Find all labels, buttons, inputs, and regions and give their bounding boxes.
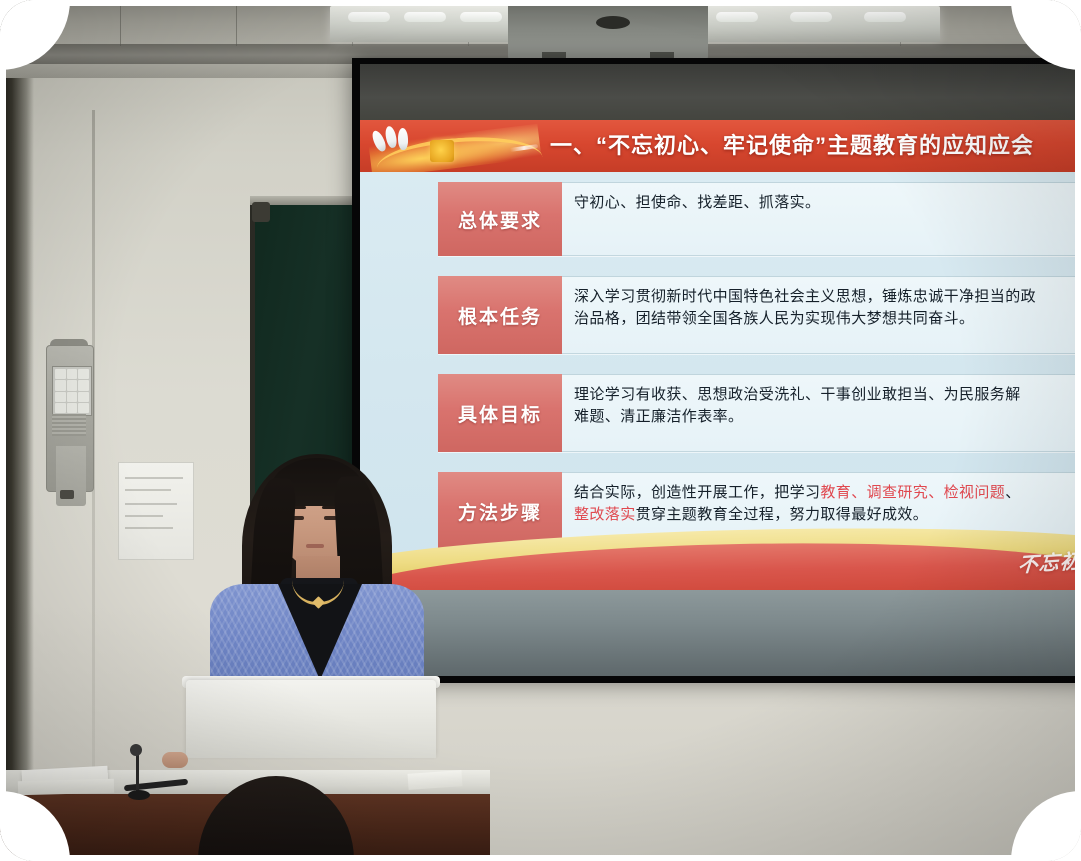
notice-text-line xyxy=(125,503,177,505)
row-text-highlight: 整改落实 xyxy=(574,506,636,523)
microphone-stem xyxy=(136,752,139,792)
screen-bottom-band xyxy=(360,588,1081,676)
photograph: 一、“不忘初心、牢记使命”主题教育的应知应会 总体要求 守初心、担使命、找差距、… xyxy=(0,0,1081,861)
row-text-line: 治品格，团结带领全国各族人民为实现伟大梦想共同奋斗。 xyxy=(574,308,1081,330)
keypad-key[interactable] xyxy=(67,380,78,390)
wall-notice-paper xyxy=(118,462,194,560)
ceiling-tile-seam xyxy=(236,0,237,46)
row-text-plain: 贯穿主题教育全过程，努力取得最好成效。 xyxy=(636,506,929,523)
notice-text-line xyxy=(125,527,173,529)
slide-content-table: 总体要求 守初心、担使命、找差距、抓落实。 根本任务 深入学习贯彻新时代中国特色… xyxy=(438,182,1081,570)
microphone-base xyxy=(128,790,150,800)
white-podium xyxy=(186,680,436,758)
slide-footer-ribbon: 不忘初心 xyxy=(360,524,1081,590)
keypad-key[interactable] xyxy=(78,403,89,413)
keypad-key[interactable] xyxy=(55,380,66,390)
keypad-key[interactable] xyxy=(78,380,89,390)
light-tube-icon xyxy=(460,12,502,22)
microphone-head-icon xyxy=(130,744,142,756)
mouth xyxy=(306,544,324,548)
keypad-key[interactable] xyxy=(67,392,78,402)
row-text-line: 理论学习有收获、思想政治受洗礼、干事创业敢担当、为民服务解 xyxy=(574,384,1081,406)
row-text-line: 难题、清正廉洁作表率。 xyxy=(574,406,1081,428)
row-text-line: 守初心、担使命、找差距、抓落实。 xyxy=(574,192,1081,214)
intercom-badge xyxy=(60,490,74,499)
slide-title: 一、“不忘初心、牢记使命”主题教育的应知应会 xyxy=(550,128,1081,160)
notice-text-line xyxy=(125,515,163,517)
row-text-plain: 、 xyxy=(1005,484,1020,501)
keypad-key[interactable] xyxy=(67,403,78,413)
female-presenter xyxy=(196,452,436,712)
wall-left-shadow xyxy=(0,0,34,861)
keypad-key[interactable] xyxy=(55,403,66,413)
row-label-cell: 总体要求 xyxy=(438,182,562,256)
row-body-cell: 理论学习有收获、思想政治受洗礼、干事创业敢担当、为民服务解 难题、清正廉洁作表率… xyxy=(562,374,1081,452)
party-hammer-sickle-emblem-icon xyxy=(430,140,454,162)
intercom-keypad[interactable] xyxy=(52,366,92,416)
footer-watermark: 不忘初心 xyxy=(1017,543,1081,578)
presenter-hand xyxy=(162,752,188,768)
ceiling-projector xyxy=(508,0,708,62)
table-row: 具体目标 理论学习有收获、思想政治受洗礼、干事创业敢担当、为民服务解 难题、清正… xyxy=(438,374,1081,452)
keypad-key[interactable] xyxy=(55,369,66,379)
intercom-speaker-grille xyxy=(52,414,86,436)
light-tube-icon xyxy=(348,12,390,22)
row-label-cell: 根本任务 xyxy=(438,276,562,354)
keypad-key[interactable] xyxy=(78,369,89,379)
keypad-key[interactable] xyxy=(78,392,89,402)
white-dove-icon xyxy=(398,128,409,150)
ceiling-tile-seam xyxy=(120,0,121,46)
blackboard-knob xyxy=(252,202,270,222)
screen-top-band xyxy=(360,64,1081,120)
notice-text-line xyxy=(125,489,171,491)
row-text-line: 深入学习贯彻新时代中国特色社会主义思想，锤炼忠诚干净担当的政 xyxy=(574,286,1081,308)
projection-screen: 一、“不忘初心、牢记使命”主题教育的应知应会 总体要求 守初心、担使命、找差距、… xyxy=(360,64,1081,676)
notice-text-line xyxy=(125,477,183,479)
row-text-highlight: 教育、调查研究、检视问题 xyxy=(820,484,1005,501)
table-row: 总体要求 守初心、担使命、找差距、抓落实。 xyxy=(438,182,1081,256)
row-text-line: 结合实际，创造性开展工作，把学习教育、调查研究、检视问题、 xyxy=(574,482,1081,504)
light-tube-icon xyxy=(790,12,832,22)
row-body-cell: 守初心、担使命、找差距、抓落实。 xyxy=(562,182,1081,256)
row-label-cell: 具体目标 xyxy=(438,374,562,452)
keypad-key[interactable] xyxy=(55,392,66,402)
slide-title-bar: 一、“不忘初心、牢记使命”主题教育的应知应会 xyxy=(360,120,1081,172)
light-tube-icon xyxy=(404,12,446,22)
projector-lens-icon xyxy=(596,16,630,29)
stack-of-papers xyxy=(18,779,114,796)
light-tube-icon xyxy=(716,12,758,22)
row-text-line: 整改落实贯穿主题教育全过程，努力取得最好成效。 xyxy=(574,504,1081,526)
keypad-key[interactable] xyxy=(67,369,78,379)
row-body-cell: 深入学习贯彻新时代中国特色社会主义思想，锤炼忠诚干净担当的政 治品格，团结带领全… xyxy=(562,276,1081,354)
light-tube-icon xyxy=(864,12,906,22)
table-row: 根本任务 深入学习贯彻新时代中国特色社会主义思想，锤炼忠诚干净担当的政 治品格，… xyxy=(438,276,1081,354)
row-text-plain: 结合实际，创造性开展工作，把学习 xyxy=(574,484,820,501)
presentation-slide: 一、“不忘初心、牢记使命”主题教育的应知应会 总体要求 守初心、担使命、找差距、… xyxy=(360,120,1081,590)
